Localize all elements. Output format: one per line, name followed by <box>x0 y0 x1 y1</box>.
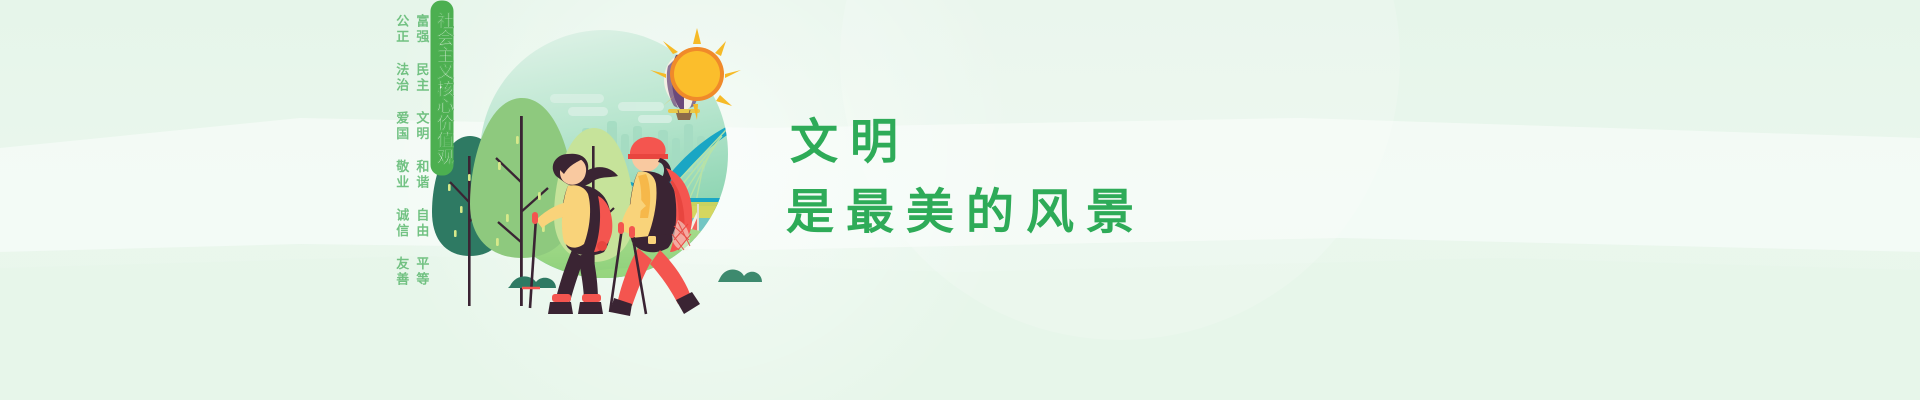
hikers-illustration <box>432 6 772 336</box>
civility-banner: 社会主义核心价值观 富强 民主 文明 和谐 自由 平等 公正 法治 爱国 敬业 … <box>0 0 1920 400</box>
core-values-title: 社会主义核心价值观 <box>432 2 452 174</box>
bush-right <box>718 270 762 283</box>
headline-line-1: 文明 <box>786 118 1146 166</box>
headline: 文明 是最美的风景 <box>786 118 1146 236</box>
core-values-slogan: 社会主义核心价值观 富强 民主 文明 和谐 自由 平等 公正 法治 爱国 敬业 … <box>392 0 452 400</box>
headline-line-2: 是最美的风景 <box>786 188 1146 236</box>
core-values-list: 富强 民主 文明 和谐 自由 平等 公正 法治 爱国 敬业 诚信 友善 <box>390 14 430 300</box>
buoy <box>738 212 758 244</box>
